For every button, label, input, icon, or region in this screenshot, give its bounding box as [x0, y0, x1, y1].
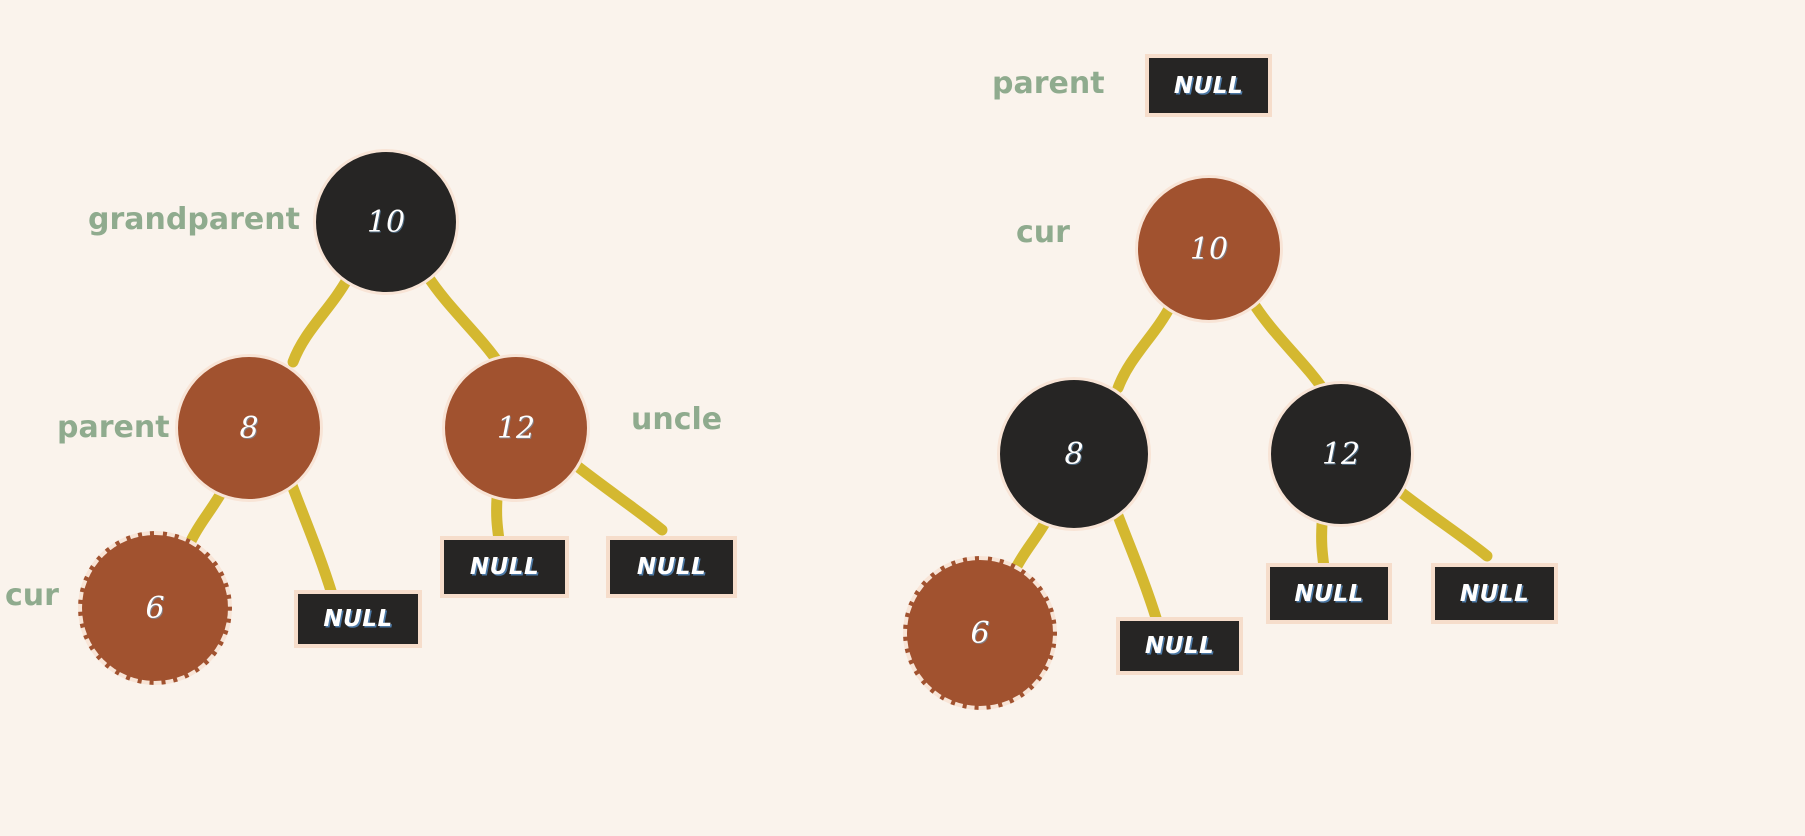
- annotation-label-cur: cur: [1016, 215, 1070, 250]
- annotation-label-uncle: uncle: [631, 402, 722, 437]
- null-leaf-box[interactable]: NULL: [1145, 54, 1272, 117]
- annotation-label-parent: parent: [57, 410, 170, 445]
- tree-edge: [1118, 305, 1171, 388]
- node-value: 8: [1064, 437, 1083, 472]
- node-value: 12: [1322, 437, 1360, 472]
- null-leaf-box[interactable]: NULL: [1266, 563, 1392, 624]
- node-value: 12: [497, 411, 535, 446]
- node-value: 10: [1190, 232, 1228, 267]
- null-label: NULL: [637, 554, 706, 580]
- null-leaf-box[interactable]: NULL: [440, 536, 569, 598]
- null-label: NULL: [1294, 581, 1363, 607]
- tree-edge: [1252, 301, 1325, 392]
- tree-node-8[interactable]: 8: [175, 354, 323, 502]
- null-label: NULL: [1145, 633, 1214, 659]
- annotation-label-grandparent: grandparent: [88, 202, 300, 237]
- node-value: 10: [367, 205, 405, 240]
- tree-node-6[interactable]: 6: [78, 531, 232, 685]
- tree-edge: [1115, 508, 1157, 621]
- tree-edge: [1402, 493, 1487, 556]
- null-leaf-box[interactable]: NULL: [606, 536, 737, 598]
- null-label: NULL: [1174, 73, 1243, 99]
- tree-node-12[interactable]: 12: [442, 354, 590, 502]
- null-leaf-box[interactable]: NULL: [1431, 563, 1558, 624]
- tree-edge: [1322, 524, 1324, 567]
- diagram-canvas: 108126NULLNULLNULLgrandparentparentuncle…: [0, 0, 1805, 836]
- tree-node-10[interactable]: 10: [1135, 175, 1283, 323]
- tree-node-10[interactable]: 10: [313, 149, 459, 295]
- null-label: NULL: [1460, 581, 1529, 607]
- null-label: NULL: [323, 606, 392, 632]
- tree-edge: [577, 466, 662, 530]
- tree-node-12[interactable]: 12: [1268, 381, 1414, 527]
- null-label: NULL: [470, 554, 539, 580]
- tree-node-6[interactable]: 6: [903, 556, 1057, 710]
- node-value: 6: [970, 616, 989, 651]
- tree-edge: [497, 498, 499, 540]
- null-leaf-box[interactable]: NULL: [294, 590, 422, 648]
- annotation-label-parent: parent: [992, 66, 1105, 101]
- tree-edge: [293, 278, 348, 362]
- node-value: 6: [145, 591, 164, 626]
- tree-edge: [427, 275, 500, 365]
- tree-node-8[interactable]: 8: [997, 377, 1151, 531]
- node-value: 8: [239, 411, 258, 446]
- null-leaf-box[interactable]: NULL: [1116, 617, 1243, 675]
- tree-edge: [290, 480, 332, 594]
- annotation-label-cur: cur: [5, 578, 59, 613]
